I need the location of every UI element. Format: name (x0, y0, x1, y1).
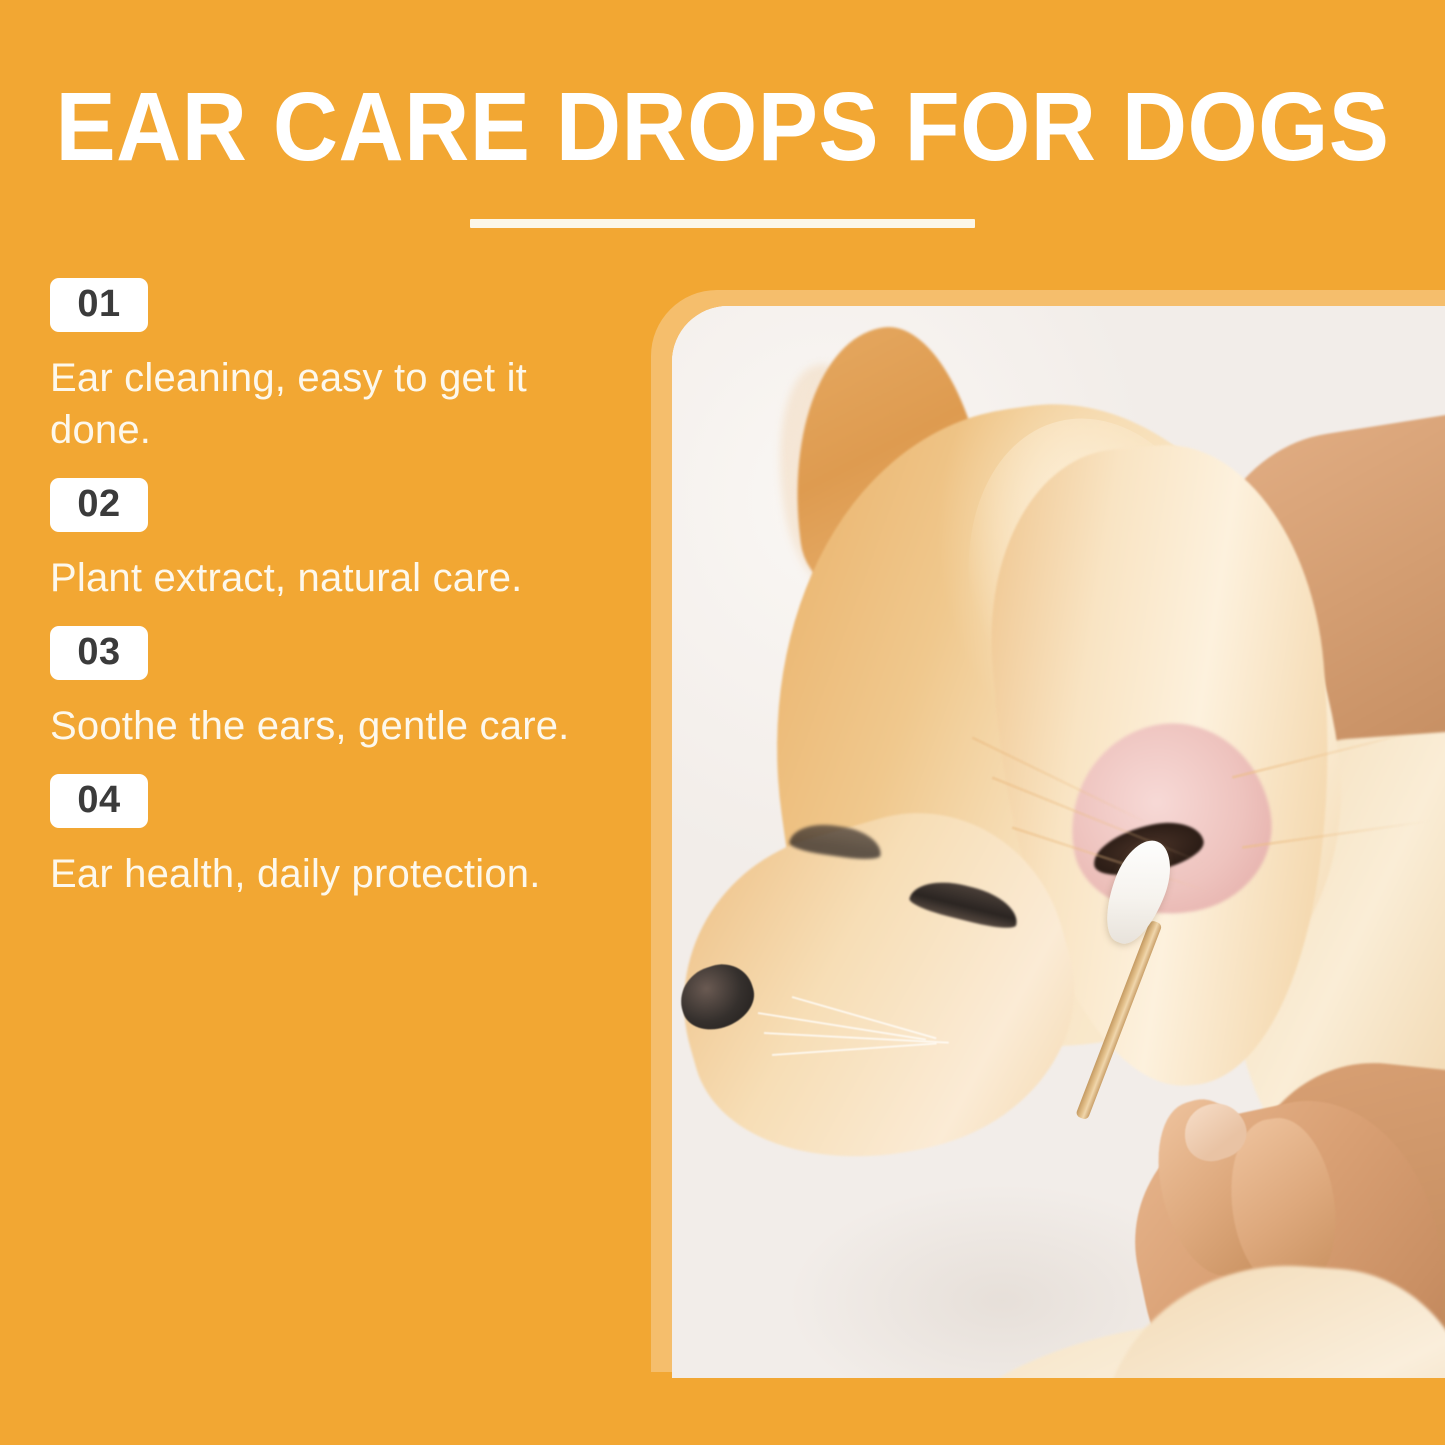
feature-number-badge-02: 02 (50, 478, 148, 532)
feature-text-02: Plant extract, natural care. (50, 552, 620, 604)
feature-item-03: 03 Soothe the ears, gentle care. (50, 626, 650, 752)
feature-text-04: Ear health, daily protection. (50, 848, 620, 900)
header: EAR CARE DROPS FOR DOGS (0, 78, 1445, 228)
feature-text-01: Ear cleaning, easy to get it done. (50, 352, 590, 456)
title-underline-rule (470, 219, 975, 228)
feature-number-badge-04: 04 (50, 774, 148, 828)
feature-number-badge-01: 01 (50, 278, 148, 332)
page-title: EAR CARE DROPS FOR DOGS (51, 78, 1395, 175)
feature-text-03: Soothe the ears, gentle care. (50, 700, 620, 752)
product-photo (672, 306, 1445, 1378)
feature-item-01: 01 Ear cleaning, easy to get it done. (50, 278, 650, 456)
feature-number-badge-03: 03 (50, 626, 148, 680)
feature-list: 01 Ear cleaning, easy to get it done. 02… (50, 278, 650, 922)
feature-item-02: 02 Plant extract, natural care. (50, 478, 650, 604)
feature-item-04: 04 Ear health, daily protection. (50, 774, 650, 900)
